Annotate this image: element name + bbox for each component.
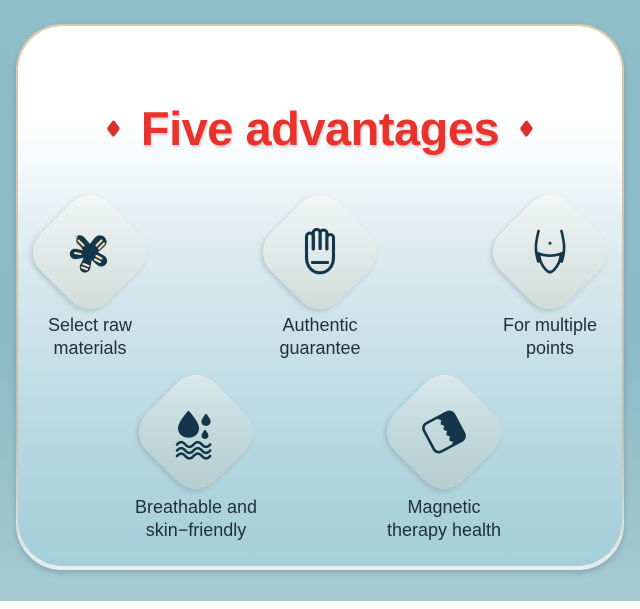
feature-badge <box>252 184 388 320</box>
feature-badge <box>22 184 158 320</box>
feature-badge <box>376 364 512 500</box>
bottom-white-band <box>0 601 640 609</box>
feature-label: Magnetic therapy health <box>387 496 501 542</box>
feature-badge <box>482 184 618 320</box>
feature-select-raw-materials[interactable]: Select raw materials <box>18 204 162 360</box>
feature-row-top: Select raw materials Authentic guara <box>18 204 622 360</box>
feature-breathable-skin-friendly[interactable]: Breathable and skin−friendly <box>112 384 280 542</box>
promo-poster: Five advantages <box>0 0 640 609</box>
feature-row-bottom: Breathable and skin−friendly Magnetic th… <box>18 384 622 542</box>
open-hand-icon <box>272 204 368 300</box>
feature-label: For multiple points <box>503 314 597 360</box>
feature-authentic-guarantee[interactable]: Authentic guarantee <box>248 204 392 360</box>
waist-torso-icon <box>502 204 598 300</box>
page-title-text: Five advantages <box>141 104 499 153</box>
page-title: Five advantages <box>18 104 622 153</box>
water-droplet-waves-icon <box>148 384 244 480</box>
feature-label: Breathable and skin−friendly <box>135 496 257 542</box>
feature-label: Authentic guarantee <box>279 314 360 360</box>
feature-badge <box>128 364 264 500</box>
feature-for-multiple-points[interactable]: For multiple points <box>478 204 622 360</box>
diamond-bullet-right-icon <box>520 120 533 138</box>
feature-card: Five advantages <box>18 26 622 566</box>
diamond-bullet-left-icon <box>107 120 120 138</box>
ginger-root-icon <box>42 204 138 300</box>
magnet-patch-icon <box>396 384 492 480</box>
feature-magnetic-therapy-health[interactable]: Magnetic therapy health <box>360 384 528 542</box>
feature-label: Select raw materials <box>48 314 132 360</box>
